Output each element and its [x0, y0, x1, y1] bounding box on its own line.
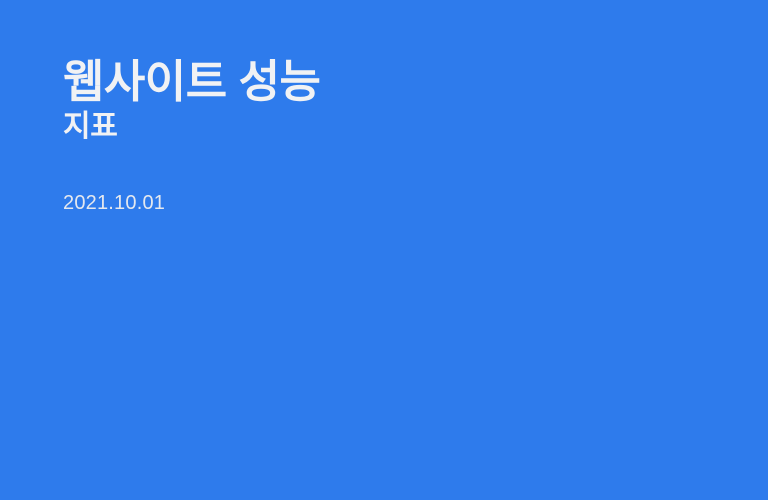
slide-date: 2021.10.01 [63, 191, 165, 215]
slide-subtitle: 지표 [63, 108, 728, 146]
title-slide: 웹사이트 성능 지표 2021.10.01 [0, 0, 768, 500]
title-block: 웹사이트 성능 지표 [63, 56, 728, 146]
slide-title: 웹사이트 성능 [63, 56, 728, 108]
